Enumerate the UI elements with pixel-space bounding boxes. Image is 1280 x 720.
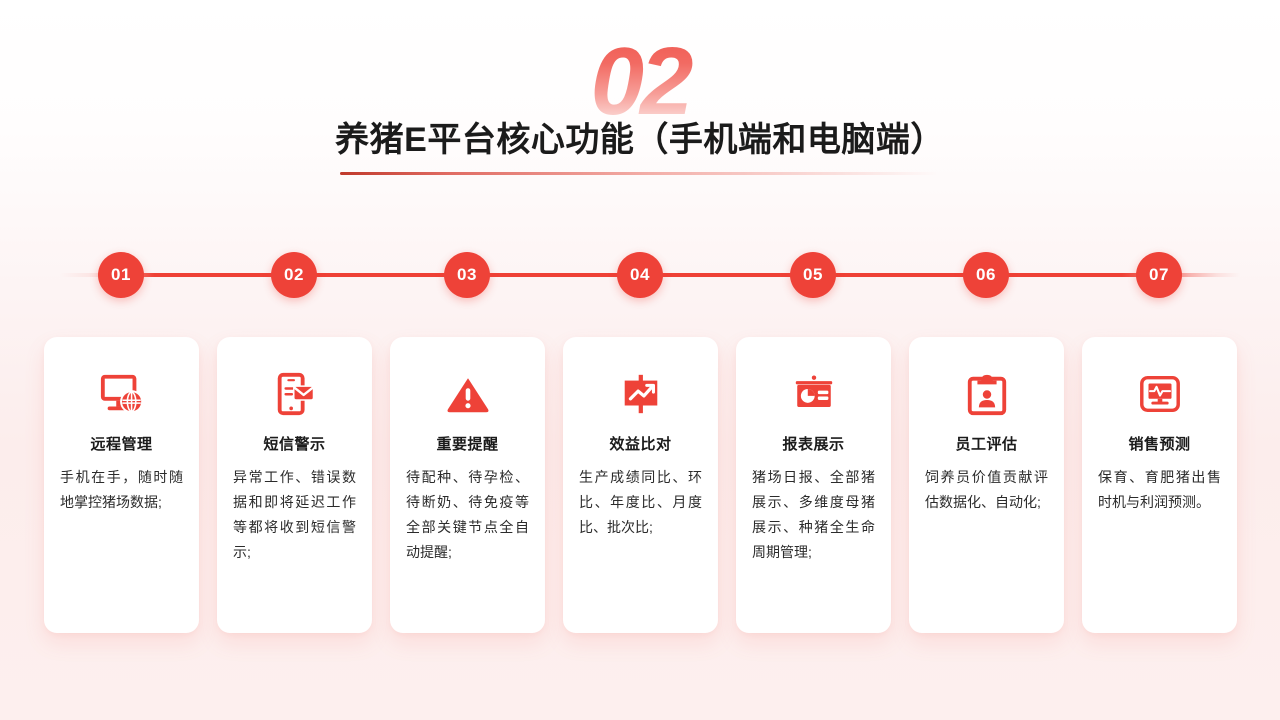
timeline-node-05[interactable]: 05 xyxy=(790,252,836,298)
title-underline-divider xyxy=(340,172,940,175)
warning-triangle-icon xyxy=(445,371,491,417)
feature-card-row: 远程管理 手机在手，随时随地掌控猪场数据; 短信警示 异常工作、错误数据和即将延… xyxy=(0,337,1280,633)
report-board-icon xyxy=(791,371,837,417)
trend-chart-icon xyxy=(618,371,664,417)
timeline-node-02[interactable]: 02 xyxy=(271,252,317,298)
timeline-node-07[interactable]: 07 xyxy=(1136,252,1182,298)
clipboard-person-icon xyxy=(964,371,1010,417)
feature-card-description: 猪场日报、全部猪展示、多维度母猪展示、种猪全生命周期管理; xyxy=(752,465,875,565)
timeline-node-04[interactable]: 04 xyxy=(617,252,663,298)
timeline-node-01[interactable]: 01 xyxy=(98,252,144,298)
feature-card-staff-evaluation[interactable]: 员工评估 饲养员价值贡献评估数据化、自动化; xyxy=(909,337,1064,633)
feature-card-title: 重要提醒 xyxy=(436,433,498,454)
timeline-node-label: 03 xyxy=(457,265,477,285)
feature-card-remote-management[interactable]: 远程管理 手机在手，随时随地掌控猪场数据; xyxy=(44,337,199,633)
timeline-node-label: 01 xyxy=(111,265,131,285)
feature-card-description: 待配种、待孕检、待断奶、待免疫等全部关键节点全自动提醒; xyxy=(406,465,529,565)
feature-card-important-reminder[interactable]: 重要提醒 待配种、待孕检、待断奶、待免疫等全部关键节点全自动提醒; xyxy=(390,337,545,633)
timeline-node-label: 02 xyxy=(284,265,304,285)
timeline-node-label: 05 xyxy=(803,265,823,285)
feature-card-report-display[interactable]: 报表展示 猪场日报、全部猪展示、多维度母猪展示、种猪全生命周期管理; xyxy=(736,337,891,633)
feature-card-title: 员工评估 xyxy=(955,433,1017,454)
timeline-node-06[interactable]: 06 xyxy=(963,252,1009,298)
monitor-globe-icon xyxy=(99,371,145,417)
feature-card-description: 饲养员价值贡献评估数据化、自动化; xyxy=(925,465,1048,515)
monitor-pulse-icon xyxy=(1137,371,1183,417)
feature-card-sms-alert[interactable]: 短信警示 异常工作、错误数据和即将延迟工作等都将收到短信警示; xyxy=(217,337,372,633)
timeline: 01 02 03 04 05 06 07 xyxy=(0,252,1280,298)
phone-message-icon xyxy=(272,371,318,417)
feature-card-description: 生产成绩同比、环比、年度比、月度比、批次比; xyxy=(579,465,702,540)
feature-card-title: 短信警示 xyxy=(263,433,325,454)
feature-card-title: 效益比对 xyxy=(609,433,671,454)
slide-header: 02 养猪E平台核心功能（手机端和电脑端） xyxy=(0,0,1280,200)
feature-card-title: 远程管理 xyxy=(90,433,152,454)
timeline-node-label: 07 xyxy=(1149,265,1169,285)
timeline-node-label: 04 xyxy=(630,265,650,285)
feature-card-description: 手机在手，随时随地掌控猪场数据; xyxy=(60,465,183,515)
feature-card-title: 报表展示 xyxy=(782,433,844,454)
feature-card-title: 销售预测 xyxy=(1128,433,1190,454)
feature-card-benefit-comparison[interactable]: 效益比对 生产成绩同比、环比、年度比、月度比、批次比; xyxy=(563,337,718,633)
timeline-node-label: 06 xyxy=(976,265,996,285)
feature-card-sales-forecast[interactable]: 销售预测 保育、育肥猪出售时机与利润预测。 xyxy=(1082,337,1237,633)
feature-card-description: 异常工作、错误数据和即将延迟工作等都将收到短信警示; xyxy=(233,465,356,565)
page-title: 养猪E平台核心功能（手机端和电脑端） xyxy=(0,112,1280,161)
timeline-node-03[interactable]: 03 xyxy=(444,252,490,298)
feature-card-description: 保育、育肥猪出售时机与利润预测。 xyxy=(1098,465,1221,515)
